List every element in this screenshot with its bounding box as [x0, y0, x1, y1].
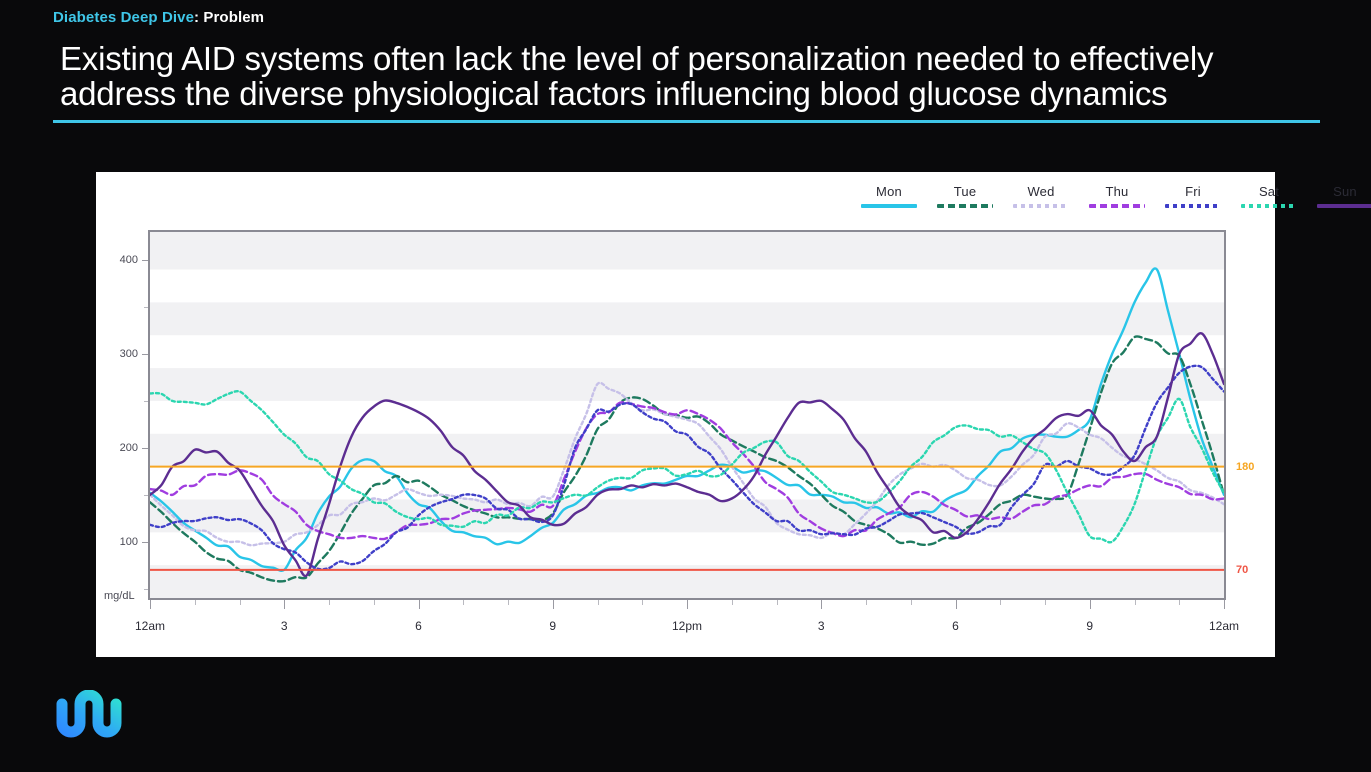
- x-tick-label: 12am: [135, 619, 165, 633]
- x-tick: [1090, 600, 1091, 609]
- x-tick-minor: [866, 600, 867, 605]
- chart-card: MonTueWedThuFriSatSun 100200300400 18070…: [96, 172, 1275, 657]
- y-tick-minor: [144, 401, 148, 402]
- glucose-line-chart: [150, 232, 1224, 598]
- x-tick-minor: [598, 600, 599, 605]
- x-tick-minor: [195, 600, 196, 605]
- y-tick-minor: [144, 589, 148, 590]
- plot-area: 100200300400 18070: [148, 230, 1226, 600]
- x-tick-minor: [1135, 600, 1136, 605]
- legend-swatch-icon: [1241, 204, 1297, 208]
- x-tick-label: 3: [281, 619, 288, 633]
- x-tick-minor: [1045, 600, 1046, 605]
- y-tick: [142, 260, 148, 261]
- x-tick-minor: [374, 600, 375, 605]
- legend-label: Mon: [861, 184, 917, 199]
- legend-item-sat[interactable]: Sat: [1241, 184, 1297, 208]
- x-tick-label: 12am: [1209, 619, 1239, 633]
- x-tick-minor: [508, 600, 509, 605]
- x-tick-label: 9: [549, 619, 556, 633]
- legend-label: Wed: [1013, 184, 1069, 199]
- x-tick-minor: [1179, 600, 1180, 605]
- x-tick: [956, 600, 957, 609]
- plot-frame: [148, 230, 1226, 600]
- x-tick-minor: [911, 600, 912, 605]
- accent-rule: [53, 120, 1320, 123]
- legend-item-thu[interactable]: Thu: [1089, 184, 1145, 208]
- x-tick-minor: [1000, 600, 1001, 605]
- legend-label: Tue: [937, 184, 993, 199]
- x-axis: 12am36912pm36912am: [148, 600, 1226, 640]
- eyebrow-accent: Diabetes Deep Dive: [53, 9, 194, 26]
- legend-label: Sun: [1317, 184, 1371, 199]
- legend-swatch-icon: [1013, 204, 1069, 208]
- chart-legend: MonTueWedThuFriSatSun: [861, 184, 1371, 208]
- x-tick: [553, 600, 554, 609]
- y-tick: [142, 448, 148, 449]
- legend-item-tue[interactable]: Tue: [937, 184, 993, 208]
- x-tick: [1224, 600, 1225, 609]
- legend-swatch-icon: [1089, 204, 1145, 208]
- x-tick-minor: [240, 600, 241, 605]
- y-tick-minor: [144, 495, 148, 496]
- slide: Diabetes Deep Dive: Problem Existing AID…: [0, 0, 1371, 772]
- legend-swatch-icon: [1165, 204, 1221, 208]
- y-axis-unit: mg/dL: [104, 590, 135, 602]
- x-tick-minor: [777, 600, 778, 605]
- legend-swatch-icon: [861, 204, 917, 208]
- legend-label: Fri: [1165, 184, 1221, 199]
- legend-item-wed[interactable]: Wed: [1013, 184, 1069, 208]
- x-tick-label: 6: [952, 619, 959, 633]
- x-tick-minor: [463, 600, 464, 605]
- legend-label: Sat: [1241, 184, 1297, 199]
- legend-swatch-icon: [1317, 204, 1371, 208]
- x-tick: [284, 600, 285, 609]
- y-tick-minor: [144, 307, 148, 308]
- x-tick-label: 12pm: [672, 619, 702, 633]
- eyebrow-rest: : Problem: [194, 9, 264, 26]
- whoop-w-logo: [52, 690, 132, 742]
- x-tick-label: 6: [415, 619, 422, 633]
- y-tick-label: 400: [120, 254, 138, 266]
- x-tick: [687, 600, 688, 609]
- y-tick-label: 200: [120, 442, 138, 454]
- legend-item-mon[interactable]: Mon: [861, 184, 917, 208]
- x-tick-minor: [732, 600, 733, 605]
- y-tick-label: 100: [120, 536, 138, 548]
- x-tick-minor: [329, 600, 330, 605]
- y-tick: [142, 354, 148, 355]
- legend-label: Thu: [1089, 184, 1145, 199]
- x-tick: [150, 600, 151, 609]
- x-tick-label: 3: [818, 619, 825, 633]
- legend-swatch-icon: [937, 204, 993, 208]
- x-tick-minor: [642, 600, 643, 605]
- x-tick: [821, 600, 822, 609]
- threshold-label-high: 180: [1236, 461, 1254, 473]
- legend-item-sun[interactable]: Sun: [1317, 184, 1371, 208]
- x-tick: [419, 600, 420, 609]
- y-tick-label: 300: [120, 348, 138, 360]
- eyebrow: Diabetes Deep Dive: Problem: [53, 9, 264, 26]
- threshold-label-low: 70: [1236, 564, 1248, 576]
- page-title: Existing AID systems often lack the leve…: [60, 42, 1330, 112]
- y-tick: [142, 542, 148, 543]
- x-tick-label: 9: [1086, 619, 1093, 633]
- legend-item-fri[interactable]: Fri: [1165, 184, 1221, 208]
